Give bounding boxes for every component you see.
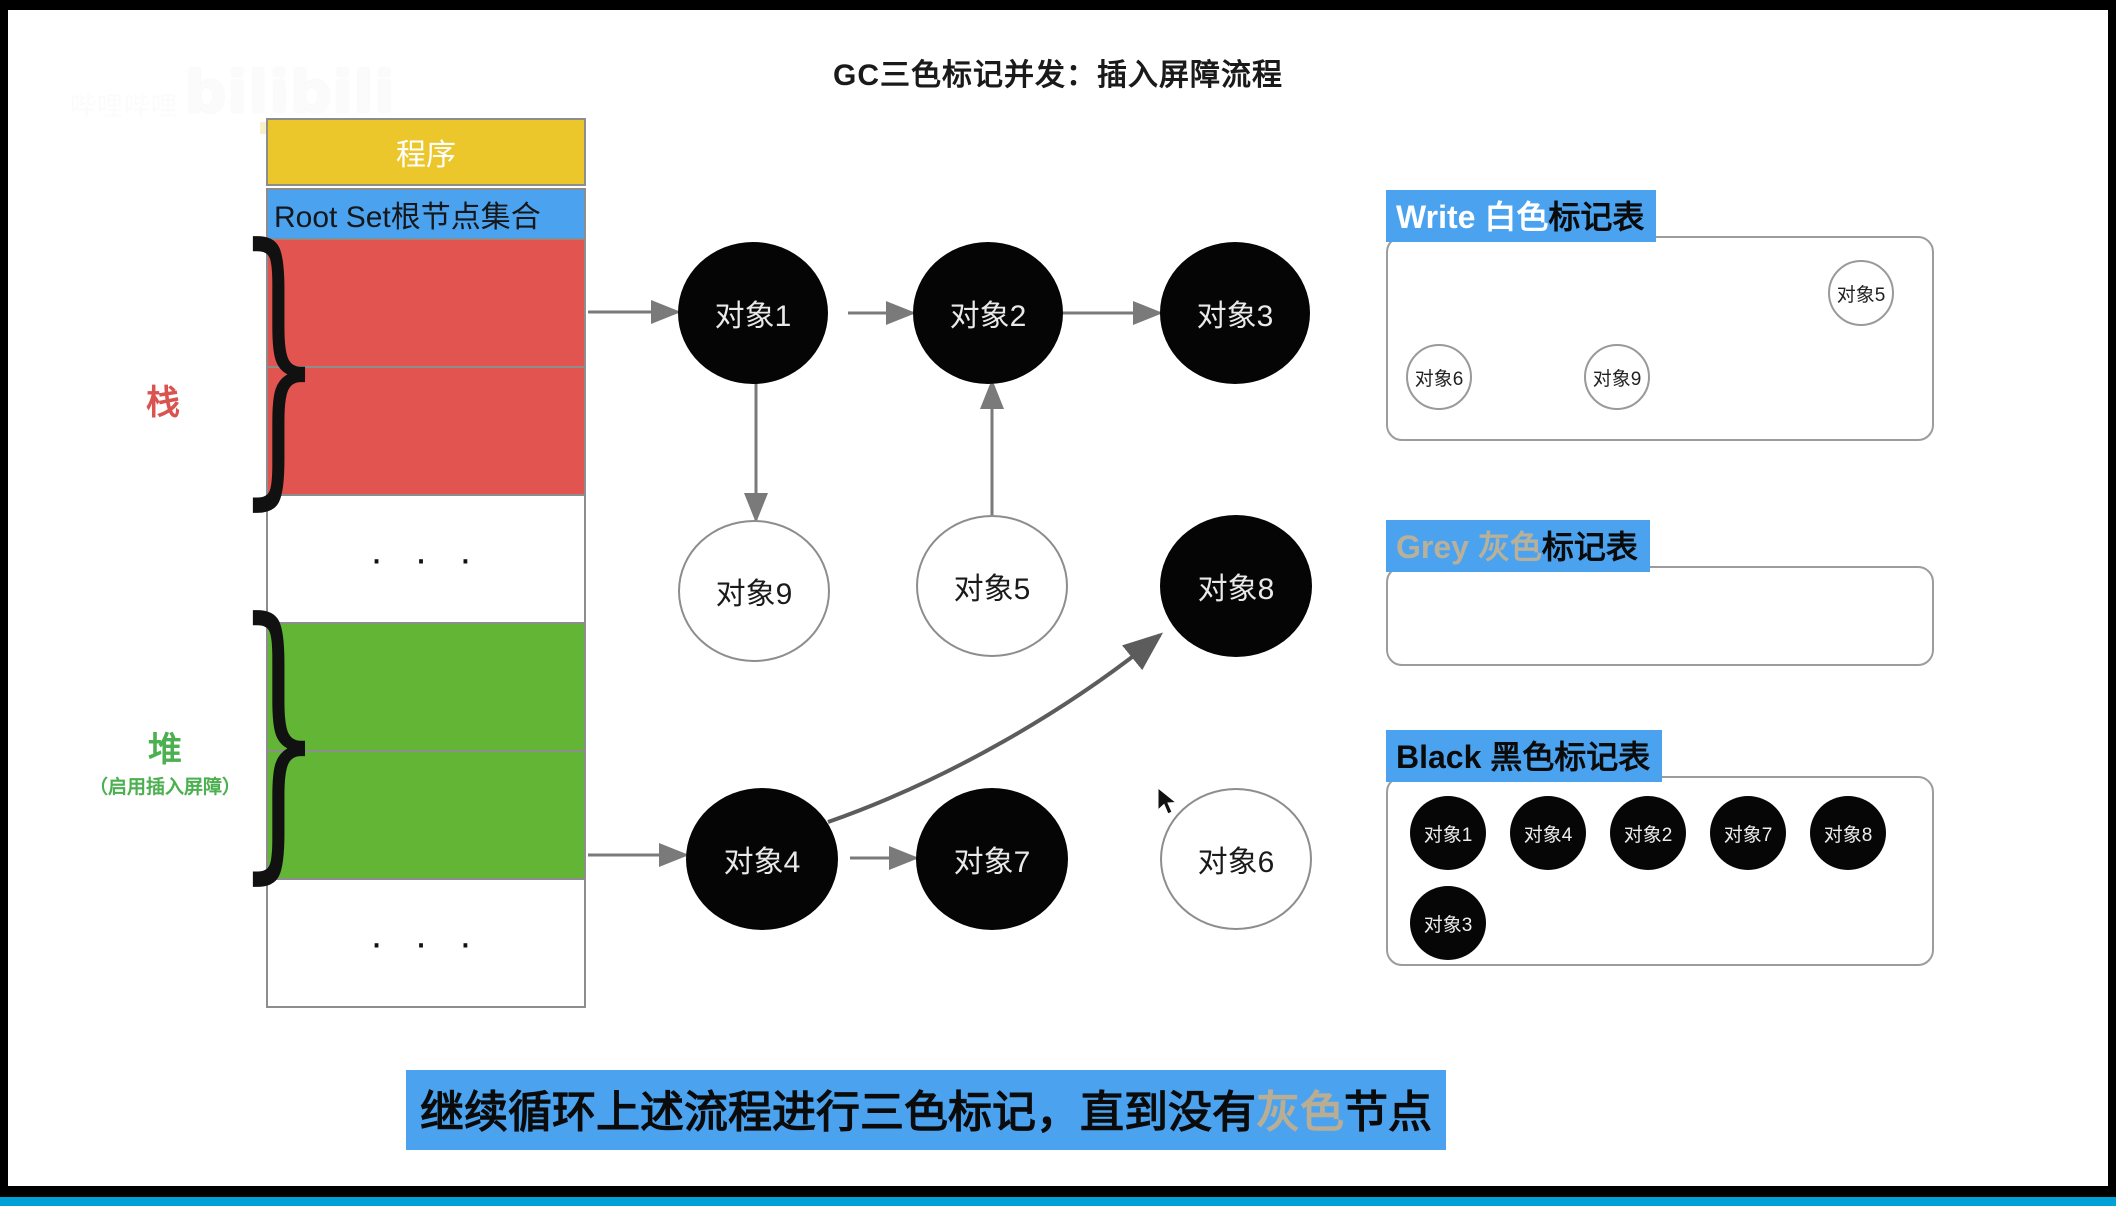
bottom-caption: 继续循环上述流程进行三色标记，直到没有灰色节点 — [406, 1070, 1446, 1150]
black-table-header-primary: Black 黑色 — [1396, 739, 1554, 775]
stack-brace: } — [236, 268, 322, 454]
stack-label: 栈 — [118, 375, 208, 424]
white-table-chip-obj9[interactable]: 对象9 — [1584, 344, 1650, 410]
video-player-stage: 哔哩哔哩 bilibili GC三色标记并发：插入屏障流程 — [0, 0, 2116, 1206]
graph-node-obj4[interactable]: 对象4 — [686, 788, 838, 930]
mouse-cursor — [1157, 787, 1179, 817]
white-table-header: Write 白色标记表 — [1386, 190, 1656, 242]
graph-node-obj3[interactable]: 对象3 — [1160, 242, 1310, 384]
grey-marker-table: Grey 灰色标记表 — [1386, 520, 1934, 666]
caption-part-1: 继续循环上述流程进行三色标记，直到没有 — [420, 1088, 1256, 1137]
video-progress-bar[interactable] — [0, 1197, 2116, 1206]
grey-table-body — [1386, 566, 1934, 666]
white-table-chip-obj6[interactable]: 对象6 — [1406, 344, 1472, 410]
white-marker-table: Write 白色标记表 对象5 对象6 对象9 — [1386, 190, 1934, 441]
graph-node-obj2[interactable]: 对象2 — [913, 242, 1063, 384]
caption-highlight: 灰色 — [1256, 1088, 1344, 1137]
black-table-header: Black 黑色标记表 — [1386, 730, 1662, 782]
grey-table-header: Grey 灰色标记表 — [1386, 520, 1650, 572]
graph-node-obj8[interactable]: 对象8 — [1160, 515, 1312, 657]
graph-node-obj7[interactable]: 对象7 — [916, 788, 1068, 930]
black-table-chip-obj1[interactable]: 对象1 — [1410, 796, 1486, 870]
graph-node-obj6[interactable]: 对象6 — [1160, 788, 1312, 930]
black-table-chip-obj2[interactable]: 对象2 — [1610, 796, 1686, 870]
graph-node-obj1[interactable]: 对象1 — [678, 242, 828, 384]
black-table-chip-obj4[interactable]: 对象4 — [1510, 796, 1586, 870]
grey-table-header-secondary: 标记表 — [1542, 529, 1638, 565]
caption-part-2: 节点 — [1344, 1088, 1432, 1137]
video-progress-played — [0, 1197, 2116, 1206]
graph-node-obj5[interactable]: 对象5 — [916, 515, 1068, 657]
black-marker-table: Black 黑色标记表 对象1 对象4 对象2 对象7 对象8 对象3 — [1386, 730, 1934, 966]
black-table-chip-obj8[interactable]: 对象8 — [1810, 796, 1886, 870]
page-title: GC三色标记并发：插入屏障流程 — [8, 50, 2108, 94]
heap-label: 堆 — [60, 722, 270, 771]
slide-canvas: 哔哩哔哩 bilibili GC三色标记并发：插入屏障流程 — [8, 10, 2108, 1186]
black-table-body: 对象1 对象4 对象2 对象7 对象8 对象3 — [1386, 776, 1934, 966]
black-table-header-secondary: 标记表 — [1554, 739, 1650, 775]
black-table-chip-obj3[interactable]: 对象3 — [1410, 886, 1486, 960]
white-table-header-primary: Write 白色 — [1396, 199, 1548, 235]
program-block: 程序 — [266, 118, 586, 186]
graph-node-obj9[interactable]: 对象9 — [678, 520, 830, 662]
black-table-chip-obj7[interactable]: 对象7 — [1710, 796, 1786, 870]
white-table-body: 对象5 对象6 对象9 — [1386, 236, 1934, 441]
white-table-chip-obj5[interactable]: 对象5 — [1828, 260, 1894, 326]
white-table-header-secondary: 标记表 — [1548, 199, 1644, 235]
grey-table-header-primary: Grey 灰色 — [1396, 529, 1542, 565]
heap-sublabel: （启用插入屏障） — [60, 772, 270, 799]
